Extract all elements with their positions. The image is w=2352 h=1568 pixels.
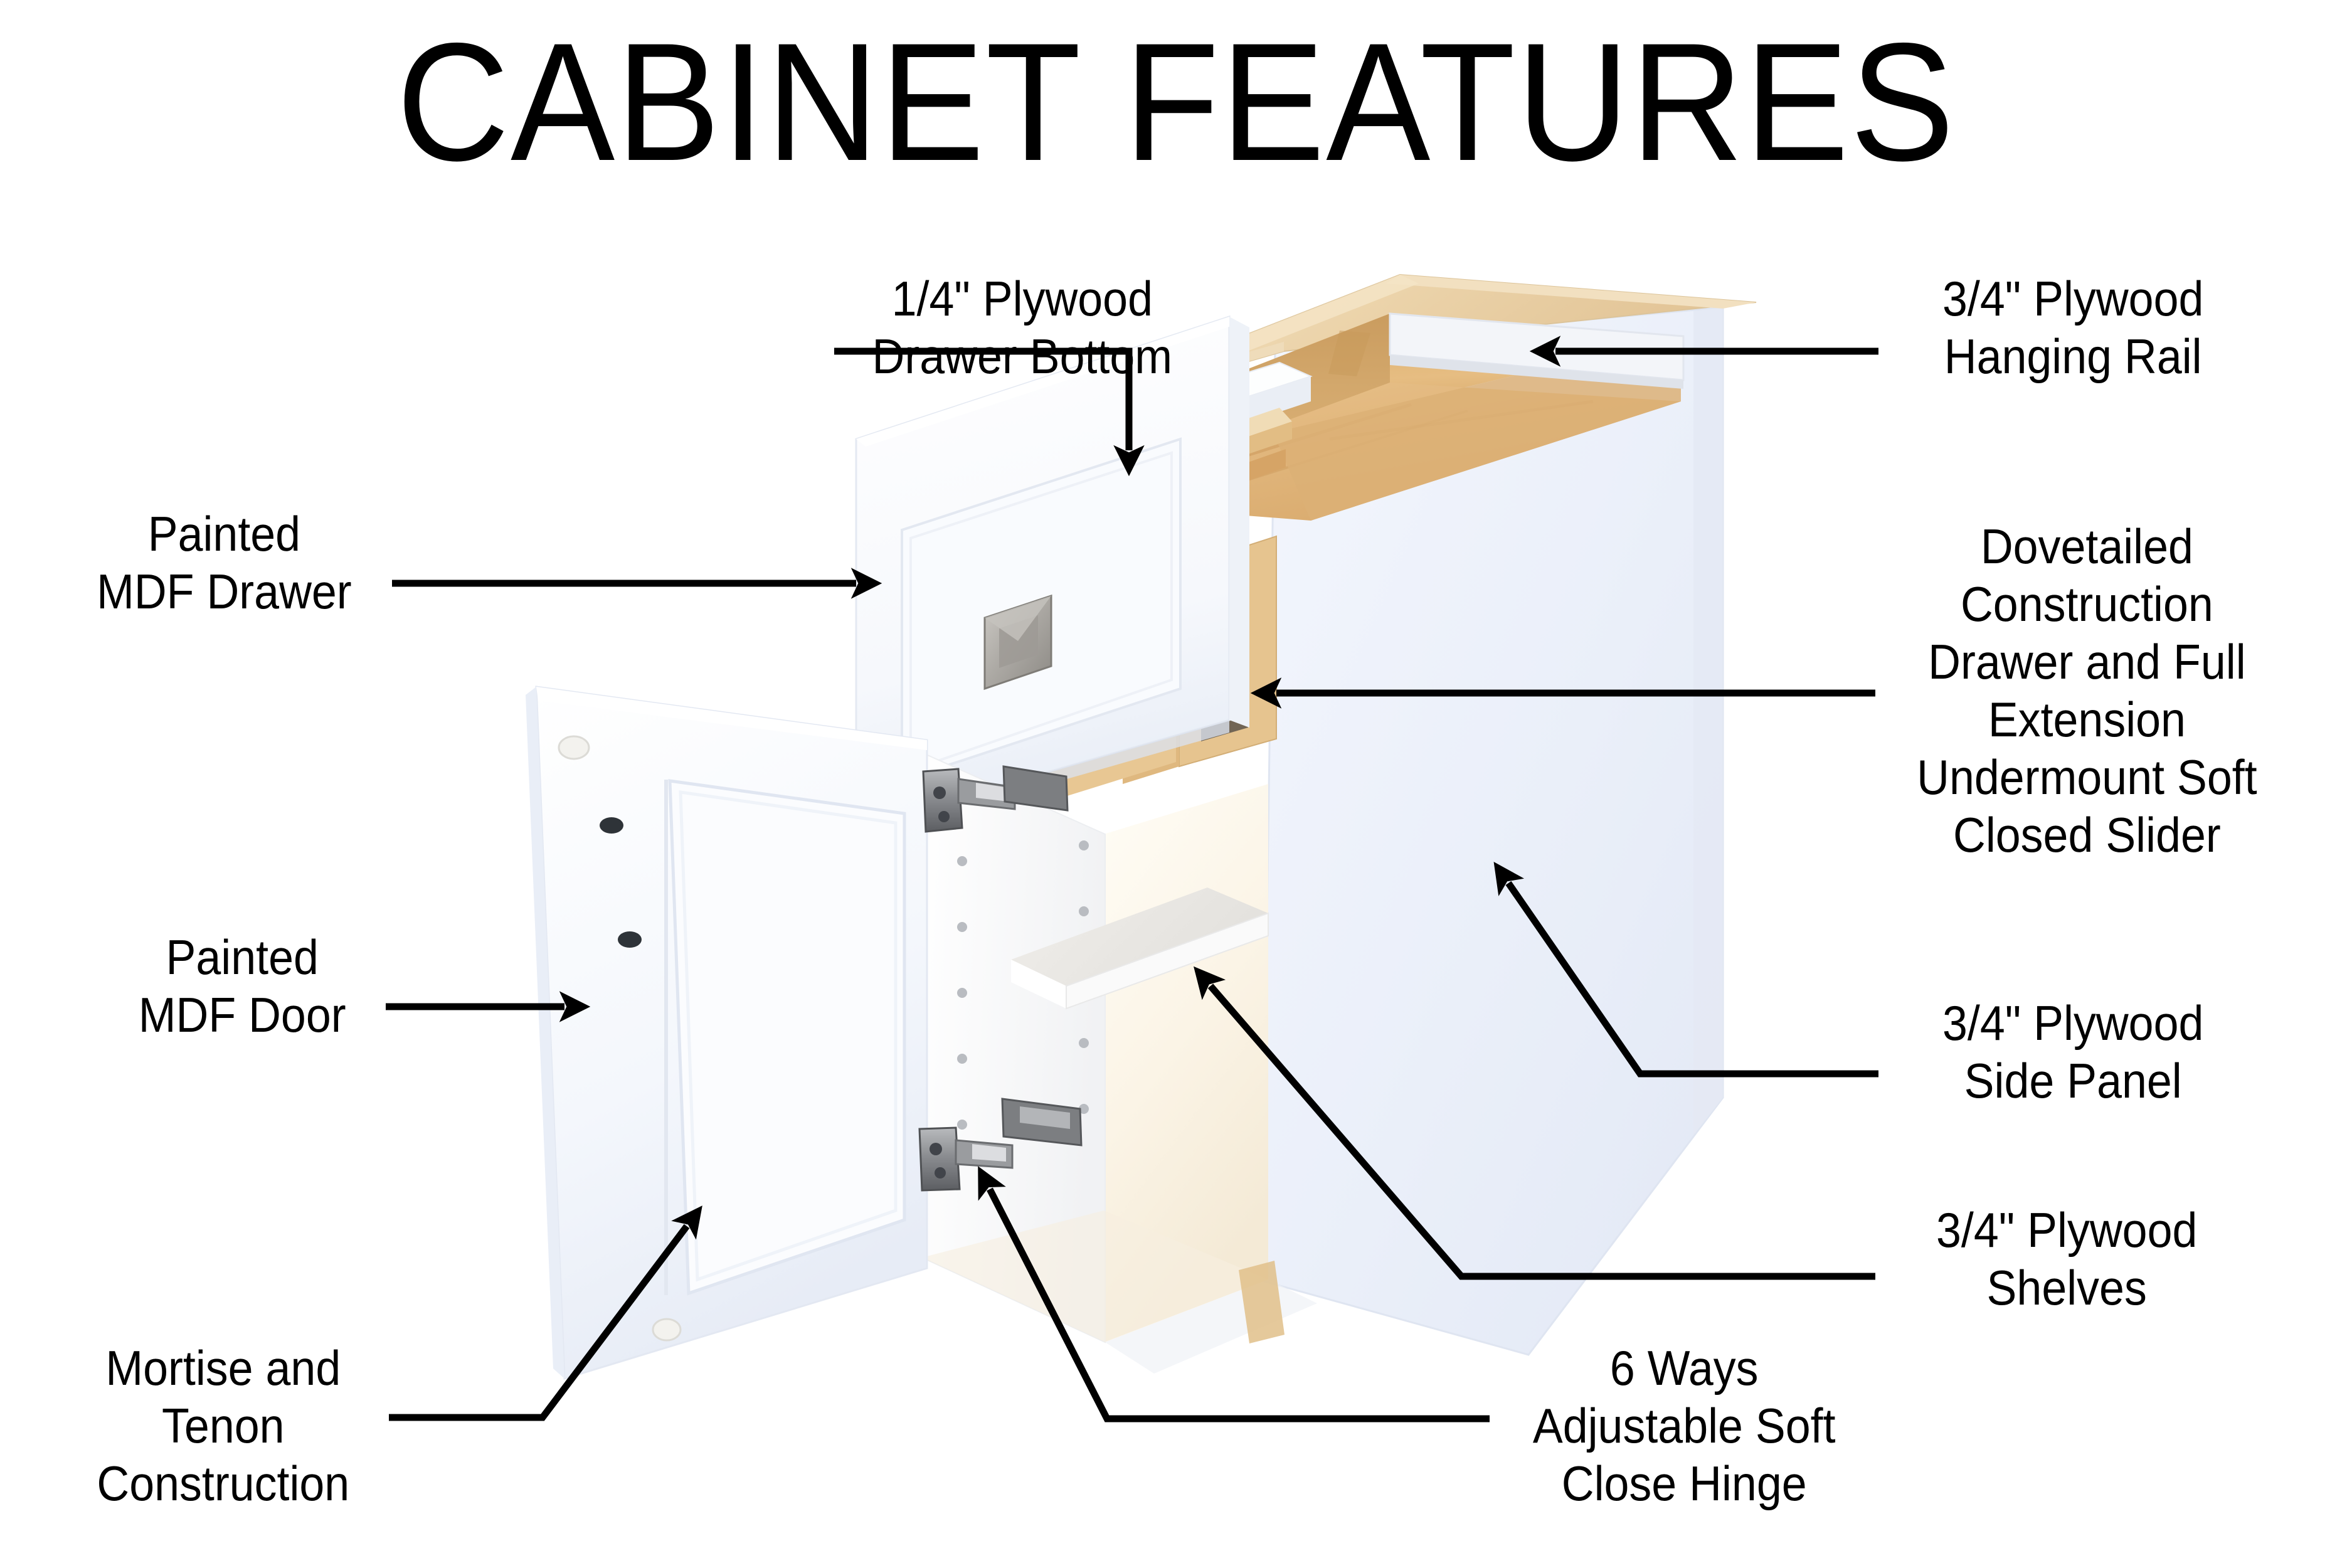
painted-mdf-door [526,687,927,1379]
soft-close-hinge-bottom [919,1099,1081,1190]
soft-close-hinge-top [923,766,1067,832]
shelf-pin-holes [957,790,1089,1130]
callout-leader-lines [386,351,1878,1419]
plywood-side-panel-graphic [1262,307,1723,1355]
leader-plywood-shelves [1210,986,1875,1276]
page-title: CABINET FEATURES [82,18,2270,186]
callout-label-mortise-tenon: Mortise and Tenon Construction [73,1339,373,1512]
leader-mortise-tenon [389,1226,687,1417]
cabinet-photo [526,275,1756,1379]
painted-mdf-drawer-front [856,317,1249,839]
leader-soft-close-hinge [990,1189,1490,1419]
callout-label-plywood-shelves: 3/4" Plywood Shelves [1888,1201,2245,1316]
plywood-shelf-graphic [1011,887,1268,1009]
plywood-hanging-rail-graphic [1390,314,1683,389]
hinge-cup-bores [600,817,642,948]
callout-label-plywood-side-panel: 3/4" Plywood Side Panel [1894,994,2252,1110]
callout-label-dovetailed-construction: Dovetailed Construction Drawer and Full … [1888,517,2286,864]
cabinet-base [1105,1261,1317,1374]
callout-label-painted-mdf-drawer: Painted MDF Drawer [63,505,386,620]
drawer-box [1004,408,1292,806]
cabinet-features-infographic: CABINET FEATURES [0,0,2352,1568]
drawer-knob[interactable] [985,596,1051,689]
door-bumper-pads [559,736,681,1340]
callout-label-plywood-hanging-rail: 3/4" Plywood Hanging Rail [1894,270,2252,385]
callout-label-soft-close-hinge: 6 Ways Adjustable Soft Close Hinge [1505,1339,1863,1512]
cabinet-interior [922,753,1268,1342]
callout-label-painted-mdf-door: Painted MDF Door [89,928,395,1044]
leader-plywood-side-panel [1508,883,1878,1074]
callout-label-plywood-drawer-bottom: 1/4" Plywood Drawer Bottom [844,270,1201,385]
